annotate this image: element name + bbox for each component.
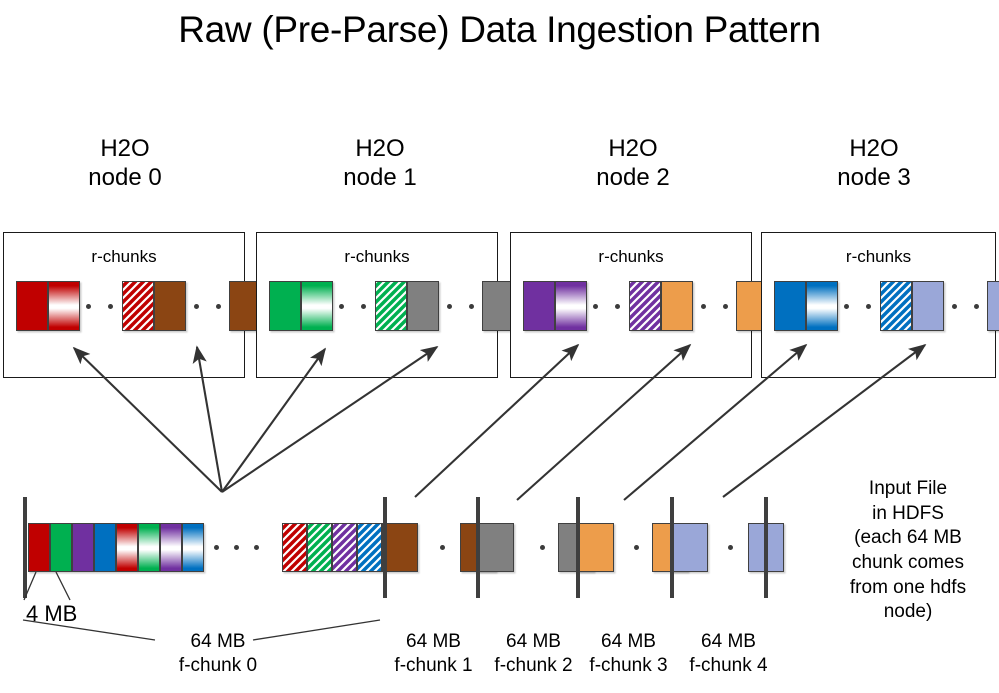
f-chunk-segment[interactable] xyxy=(672,523,708,572)
fchunk-divider xyxy=(476,497,480,598)
label-fchunk-0: 64 MB f-chunk 0 xyxy=(148,630,288,678)
label-4mb: 4 MB xyxy=(26,601,77,627)
ellipsis-dot xyxy=(234,545,239,550)
f-chunk-segment[interactable] xyxy=(182,523,204,572)
f-chunk-segment[interactable] xyxy=(357,523,382,572)
f-chunk-segment[interactable] xyxy=(332,523,357,572)
fchunk-divider xyxy=(383,497,387,598)
f-chunk-segment[interactable] xyxy=(50,523,72,572)
input-file-note-line-2: (each 64 MB xyxy=(818,526,998,551)
input-file-note-line-3: chunk comes xyxy=(818,551,998,576)
ellipsis-dot xyxy=(254,545,259,550)
input-file-note-line-1: in HDFS xyxy=(818,502,998,527)
ellipsis-dot xyxy=(728,545,733,550)
f-chunk-segment[interactable] xyxy=(116,523,138,572)
f-chunk-segment[interactable] xyxy=(138,523,160,572)
ellipsis-dot xyxy=(440,545,445,550)
input-file-note-line-4: from one hdfs xyxy=(818,576,998,601)
f-chunk-segment[interactable] xyxy=(160,523,182,572)
f-chunk-segment[interactable] xyxy=(478,523,514,572)
input-file-note-line-0: Input File xyxy=(818,477,998,502)
label-fchunk-0-size: 64 MB xyxy=(148,630,288,654)
label-fchunk-4: 64 MB f-chunk 4 xyxy=(666,630,791,678)
f-chunk-segment[interactable] xyxy=(382,523,418,572)
fchunk-divider xyxy=(576,497,580,598)
fchunk-divider xyxy=(670,497,674,598)
label-fchunk-4-name: f-chunk 4 xyxy=(666,654,791,678)
input-file-note: Input File in HDFS (each 64 MB chunk com… xyxy=(818,477,998,625)
f-chunk-segment[interactable] xyxy=(307,523,332,572)
f-chunk-segment[interactable] xyxy=(94,523,116,572)
ellipsis-dot xyxy=(214,545,219,550)
input-file-note-line-5: node) xyxy=(818,600,998,625)
f-chunk-segment[interactable] xyxy=(72,523,94,572)
fchunk-divider xyxy=(23,497,27,598)
ellipsis-dot xyxy=(634,545,639,550)
fchunk-divider xyxy=(764,497,768,598)
diagram-canvas: Raw (Pre-Parse) Data Ingestion Pattern H… xyxy=(0,0,999,693)
f-chunk-segment[interactable] xyxy=(28,523,50,572)
f-chunk-segment[interactable] xyxy=(578,523,614,572)
label-fchunk-4-size: 64 MB xyxy=(666,630,791,654)
f-chunk-segment[interactable] xyxy=(282,523,307,572)
label-fchunk-0-name: f-chunk 0 xyxy=(148,654,288,678)
ellipsis-dot xyxy=(540,545,545,550)
